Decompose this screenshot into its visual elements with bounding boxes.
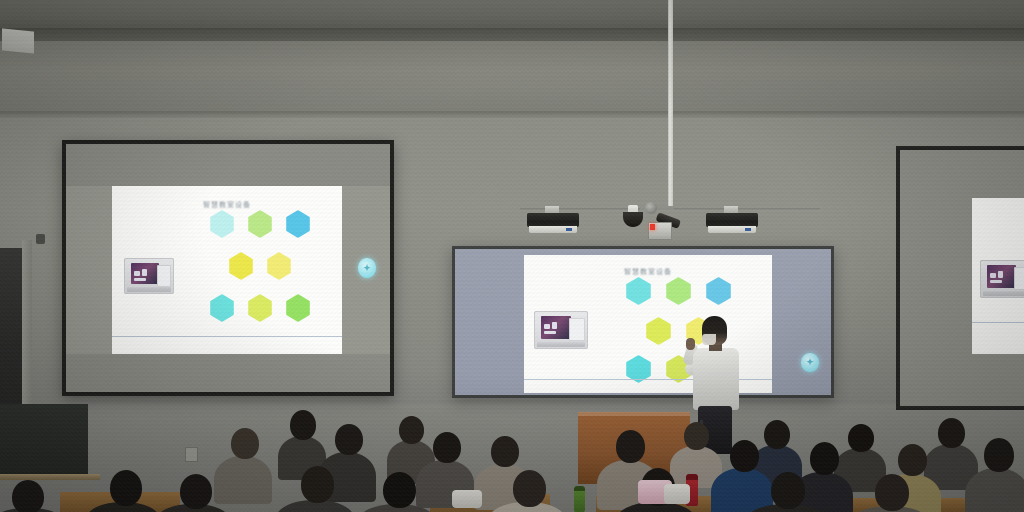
person-head — [335, 424, 363, 455]
person-head — [399, 416, 424, 444]
slide-corner-badge: ✦ — [801, 353, 819, 372]
person-head — [513, 470, 546, 507]
person-head — [938, 418, 965, 448]
audience-member — [0, 480, 56, 512]
camera-joint — [645, 202, 657, 214]
person-head — [491, 436, 519, 467]
device-base — [127, 287, 171, 292]
hexagon-5 — [267, 252, 291, 280]
hexagon-2 — [666, 277, 691, 305]
slide-title: 智慧教室设备 — [524, 267, 772, 277]
speaker-lip — [708, 226, 756, 233]
audience-member — [222, 428, 266, 494]
audience-member — [282, 410, 322, 470]
right-projection-screen[interactable] — [896, 146, 1024, 410]
power-outlet — [185, 447, 198, 462]
audience-member — [424, 432, 468, 498]
speaker-body — [706, 213, 758, 227]
hexagon-1 — [626, 277, 651, 305]
ceiling-speaker-left — [527, 206, 579, 234]
hexagon-4 — [229, 252, 253, 280]
device-base — [983, 291, 1024, 297]
ceiling-speaker-right — [706, 206, 758, 234]
slide-divider — [112, 336, 342, 337]
hexagon-7 — [248, 294, 272, 322]
person-head — [433, 432, 461, 463]
presenter-hand — [686, 338, 695, 350]
person-head — [771, 472, 805, 509]
person-head — [180, 474, 212, 509]
device-side-panel — [1014, 267, 1024, 290]
thermos-cap — [686, 474, 698, 480]
person-head — [764, 420, 790, 449]
person-shoulders — [214, 456, 272, 504]
presenter-torso — [693, 348, 739, 410]
left-projection-screen[interactable]: 智慧教室设备 — [62, 140, 394, 396]
speaker-badge-icon — [566, 228, 572, 231]
wall-sign — [2, 28, 34, 53]
hexagon-6 — [210, 294, 234, 322]
wall-hook — [36, 234, 45, 244]
right-screen-surface — [900, 150, 1024, 406]
ceiling-beam — [0, 28, 1024, 42]
hexagon-3 — [706, 277, 731, 305]
slide-title: 智慧教室设备 — [112, 200, 342, 210]
audience-member — [974, 438, 1022, 510]
person-head — [383, 472, 416, 508]
speaker-body — [527, 213, 579, 227]
center-screen-surface: 智慧教室设备 — [455, 249, 831, 395]
audience-member — [758, 472, 816, 512]
bottle-cap — [574, 486, 585, 491]
left-slide: 智慧教室设备 — [112, 186, 342, 354]
person-head — [684, 422, 709, 450]
hexagon-4 — [646, 317, 671, 345]
audience-member — [370, 472, 426, 512]
person-head — [12, 480, 44, 512]
slide-corner-badge: ✦ — [358, 258, 376, 278]
audience-member — [840, 424, 880, 480]
white-bag — [664, 484, 690, 504]
device-base — [537, 342, 585, 348]
center-interactive-whiteboard[interactable]: 智慧教室设备 — [452, 246, 834, 398]
right-slide — [972, 198, 1024, 354]
badge-glyph: ✦ — [801, 353, 819, 372]
hexagon-8 — [286, 294, 310, 322]
person-head — [616, 430, 645, 463]
slide-device-image — [980, 260, 1024, 298]
person-head — [730, 440, 759, 472]
speaker-badge-icon — [745, 228, 751, 231]
ceiling-drop-pole — [668, 0, 673, 210]
led-indicator-icon — [650, 224, 655, 230]
audience-member — [862, 474, 920, 512]
left-screen-surface: 智慧教室设备 — [66, 144, 390, 392]
wall-upper — [0, 41, 1024, 113]
face-mask-icon — [702, 334, 716, 345]
person-head — [231, 428, 259, 459]
slide-divider — [972, 322, 1024, 323]
slide-device-image — [534, 311, 588, 349]
green-bottle — [574, 486, 585, 512]
camera-dome — [623, 212, 643, 227]
person-head — [110, 470, 142, 506]
audience-member — [288, 466, 344, 512]
person-shoulders — [965, 468, 1024, 512]
slide-device-image — [124, 258, 174, 294]
speaker-lip — [529, 226, 577, 233]
device-side-panel — [157, 265, 171, 287]
person-head — [848, 424, 874, 452]
blackboard — [0, 404, 88, 476]
classroom-scene: 智慧教室设备 — [0, 0, 1024, 512]
desk-paper — [452, 490, 482, 508]
person-head — [301, 466, 334, 503]
person-head — [984, 438, 1014, 472]
person-head — [875, 474, 909, 511]
person-head — [898, 444, 927, 476]
hexagon-1 — [210, 210, 234, 238]
audience-member — [500, 470, 556, 512]
audience-member — [168, 474, 222, 512]
audience-member — [930, 418, 972, 478]
hexagon-2 — [248, 210, 272, 238]
badge-glyph: ✦ — [358, 258, 376, 278]
person-head — [810, 442, 839, 475]
audience-member — [98, 470, 152, 512]
hexagon-3 — [286, 210, 310, 238]
device-side-panel — [569, 318, 585, 341]
slide-hexagon-grid — [208, 210, 338, 330]
person-head — [290, 410, 316, 440]
ceiling — [0, 0, 1024, 30]
